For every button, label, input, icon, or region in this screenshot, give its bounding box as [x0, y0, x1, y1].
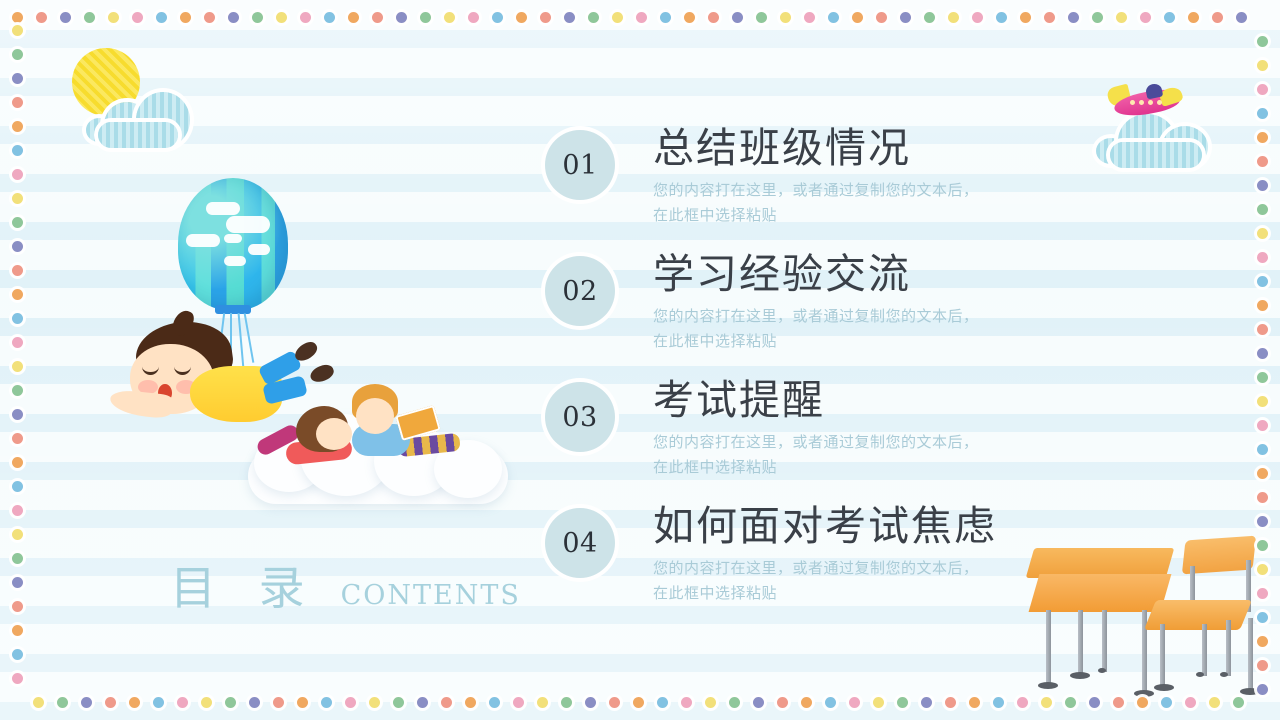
agenda-number-01: 01: [562, 150, 597, 181]
agenda-item-04[interactable]: 04 如何面对考试焦虑 您的内容打在这里，或者通过复制您的文本后， 在此框中选择…: [545, 504, 1185, 624]
slide-root: 目 录 CONTENTS 01 总结班级情况 您的内容打在这里，或者通过复制您的…: [0, 0, 1280, 720]
agenda-number-badge-02: 02: [545, 256, 615, 326]
agenda-number-badge-04: 04: [545, 508, 615, 578]
agenda-desc-02-line2: 在此框中选择粘贴: [653, 329, 1193, 354]
contents-heading-cn: 目 录: [170, 565, 319, 611]
agenda-list: 01 总结班级情况 您的内容打在这里，或者通过复制您的文本后， 在此框中选择粘贴…: [545, 126, 1185, 624]
agenda-desc-04-line1: 您的内容打在这里，或者通过复制您的文本后，: [653, 556, 1193, 581]
contents-heading: 目 录 CONTENTS: [170, 565, 521, 611]
airplane-icon: [1108, 78, 1188, 126]
agenda-number-02: 02: [562, 276, 597, 307]
agenda-desc-03-line2: 在此框中选择粘贴: [653, 455, 1193, 480]
agenda-desc-01-line1: 您的内容打在这里，或者通过复制您的文本后，: [653, 178, 1193, 203]
agenda-desc-04-line2: 在此框中选择粘贴: [653, 581, 1193, 606]
agenda-title-01: 总结班级情况: [653, 126, 1193, 172]
agenda-title-04: 如何面对考试焦虑: [653, 504, 1193, 550]
agenda-item-02[interactable]: 02 学习经验交流 您的内容打在这里，或者通过复制您的文本后， 在此框中选择粘贴: [545, 252, 1185, 378]
agenda-item-01[interactable]: 01 总结班级情况 您的内容打在这里，或者通过复制您的文本后， 在此框中选择粘贴: [545, 126, 1185, 252]
contents-heading-en: CONTENTS: [341, 580, 521, 611]
agenda-desc-01-line2: 在此框中选择粘贴: [653, 203, 1193, 228]
agenda-number-03: 03: [562, 402, 597, 433]
agenda-title-03: 考试提醒: [653, 378, 1193, 424]
agenda-number-badge-01: 01: [545, 130, 615, 200]
agenda-desc-03-line1: 您的内容打在这里，或者通过复制您的文本后，: [653, 430, 1193, 455]
agenda-number-badge-03: 03: [545, 382, 615, 452]
agenda-title-02: 学习经验交流: [653, 252, 1193, 298]
agenda-item-03[interactable]: 03 考试提醒 您的内容打在这里，或者通过复制您的文本后， 在此框中选择粘贴: [545, 378, 1185, 504]
agenda-desc-02-line1: 您的内容打在这里，或者通过复制您的文本后，: [653, 304, 1193, 329]
agenda-number-04: 04: [562, 528, 597, 559]
